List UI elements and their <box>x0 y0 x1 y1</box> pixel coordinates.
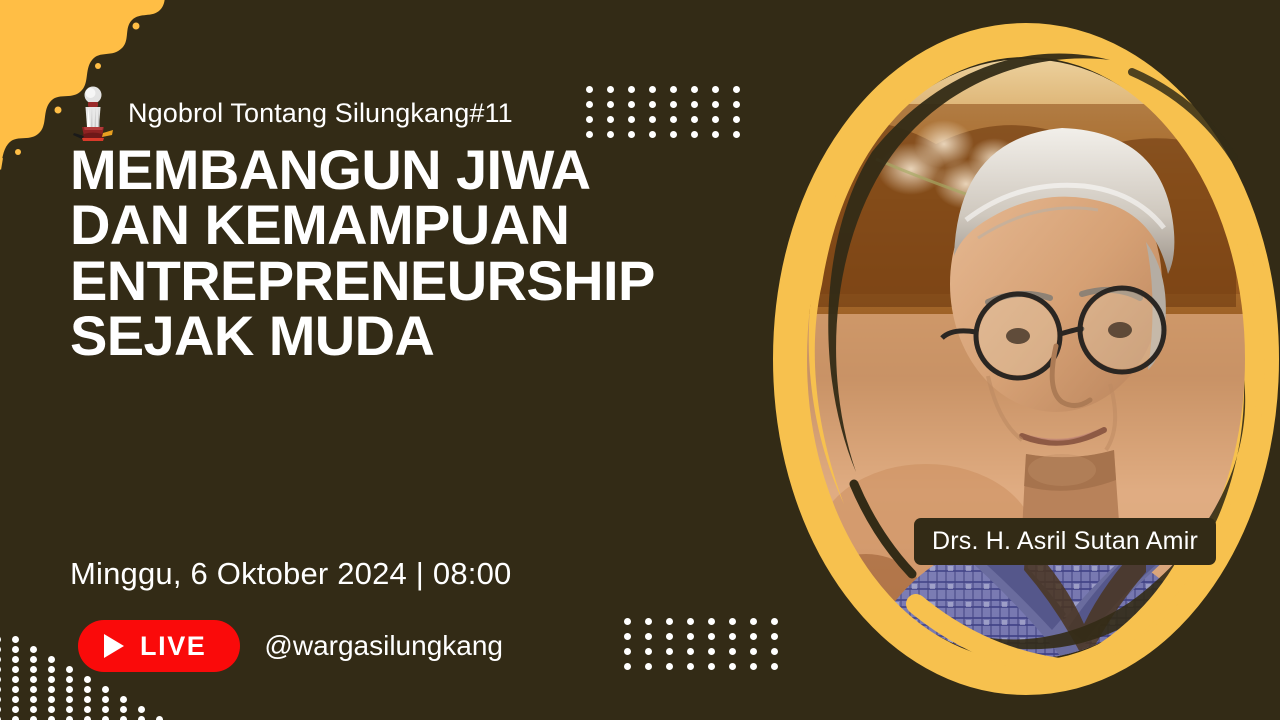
series-title: Ngobrol Tontang Silungkang#11 <box>128 98 513 129</box>
monument-icon <box>70 84 116 142</box>
decor-dot <box>30 636 37 643</box>
decor-dot <box>0 676 1 683</box>
decor-dot <box>12 696 19 703</box>
decor-dot <box>30 666 37 673</box>
decor-dot <box>48 716 55 720</box>
decor-dot <box>30 696 37 703</box>
decor-dot <box>48 646 55 653</box>
decor-dot <box>12 656 19 663</box>
decor-dot <box>0 656 1 663</box>
event-datetime: Minggu, 6 Oktober 2024 | 08:00 <box>70 556 511 592</box>
headline-line-4: SEJAK MUDA <box>70 308 720 363</box>
decor-dot <box>12 686 19 693</box>
decor-dot <box>48 656 55 663</box>
decor-dot <box>0 706 1 713</box>
decor-dot <box>48 696 55 703</box>
play-icon <box>104 634 124 658</box>
portrait-graphic <box>726 0 1280 720</box>
decor-dot <box>0 666 1 673</box>
event-poster: Ngobrol Tontang Silungkang#11 MEMBANGUN … <box>0 0 1280 720</box>
decor-dot <box>30 656 37 663</box>
live-label: LIVE <box>140 631 206 662</box>
decor-dot <box>30 676 37 683</box>
broadcast-row: LIVE @wargasilungkang <box>78 620 503 672</box>
decor-dot <box>48 676 55 683</box>
decor-dot <box>12 706 19 713</box>
decor-dot <box>0 686 1 693</box>
content-column: Ngobrol Tontang Silungkang#11 MEMBANGUN … <box>70 0 730 720</box>
decor-dot <box>12 666 19 673</box>
headline-line-3: ENTREPRENEURSHIP <box>70 253 720 308</box>
series-kicker: Ngobrol Tontang Silungkang#11 <box>70 84 513 142</box>
decor-dot <box>48 666 55 673</box>
decor-dot <box>0 696 1 703</box>
social-handle[interactable]: @wargasilungkang <box>264 630 503 662</box>
decor-dot <box>30 716 37 720</box>
decor-dot <box>0 646 1 653</box>
decor-dot <box>30 646 37 653</box>
decor-dot <box>12 636 19 643</box>
decor-dot <box>0 636 1 643</box>
decor-dot <box>12 646 19 653</box>
headline-line-1: MEMBANGUN JIWA <box>70 142 720 197</box>
speaker-portrait: Drs. H. Asril Sutan Amir <box>726 0 1280 720</box>
live-button[interactable]: LIVE <box>78 620 240 672</box>
headline-line-2: DAN KEMAMPUAN <box>70 197 720 252</box>
decor-dot <box>0 716 1 720</box>
decor-dot <box>30 686 37 693</box>
speaker-name: Drs. H. Asril Sutan Amir <box>914 518 1216 565</box>
decor-dot <box>12 716 19 720</box>
decor-dot <box>48 686 55 693</box>
decor-dot <box>48 706 55 713</box>
decor-dot <box>48 636 55 643</box>
decor-dot <box>12 676 19 683</box>
page-title: MEMBANGUN JIWA DAN KEMAMPUAN ENTREPRENEU… <box>70 142 720 364</box>
decor-dot <box>30 706 37 713</box>
